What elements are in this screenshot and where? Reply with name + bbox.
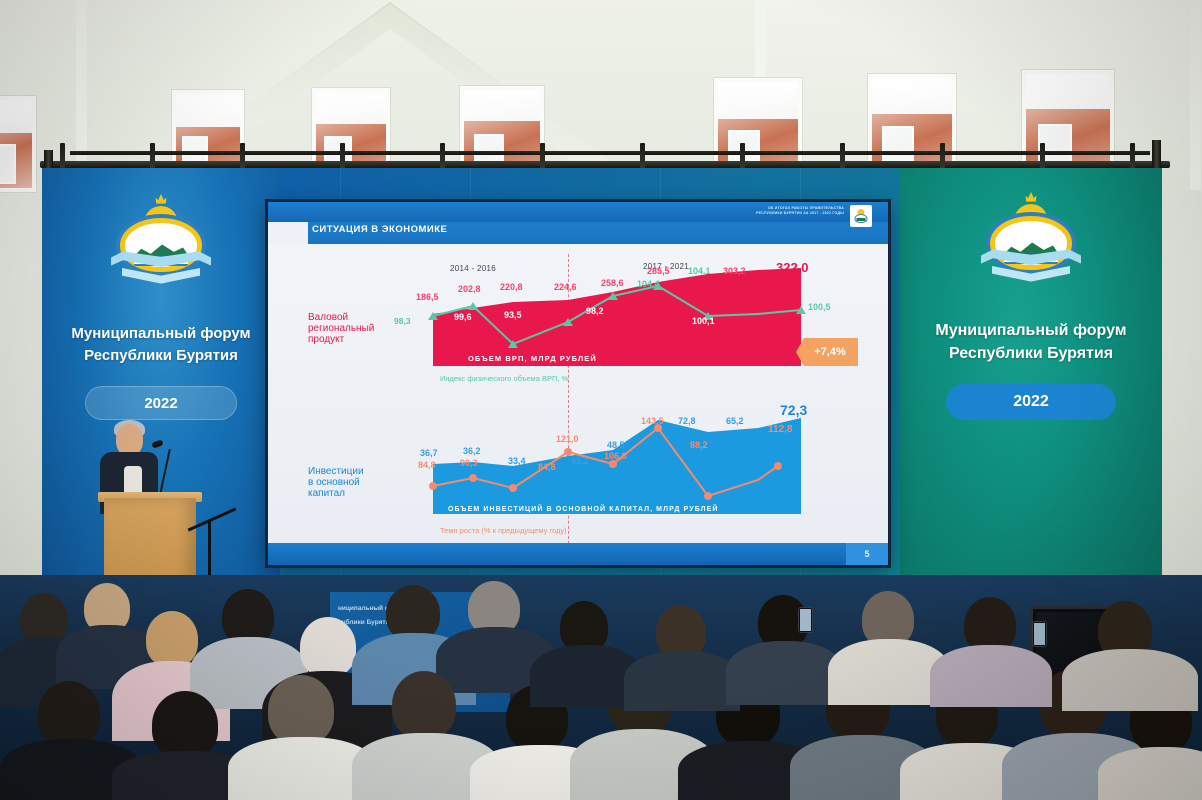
banner-right-title-line1: Муниципальный форум [900, 320, 1162, 342]
grp-index-label: 99,6 [454, 312, 472, 322]
hall-window [0, 96, 36, 192]
inv-rate-label: 84,8 [538, 462, 556, 472]
slide-header-emblem-icon [850, 205, 872, 227]
inv-value-label: 48,5 [607, 440, 625, 450]
grp-value-label-final: 322,0 [776, 260, 809, 275]
slide-title: СИТУАЦИЯ В ЭКОНОМИКЕ [312, 224, 447, 235]
investment-chart-svg [268, 394, 888, 554]
grp-axis-note: Индекс физического объема ВРП, % [440, 374, 568, 383]
grp-value-label: 186,5 [416, 292, 439, 302]
grp-index-label: 93,5 [504, 310, 522, 320]
inv-value-label: 36,2 [463, 446, 481, 456]
banner-left-title-line1: Муниципальный форум [42, 324, 280, 344]
inv-value-label: 65,2 [726, 416, 744, 426]
inv-rate-label: 90,3 [460, 458, 478, 468]
inv-rate-label: 106,8 [604, 451, 627, 461]
grp-index-label: 100,1 [692, 316, 715, 326]
wall-column [1190, 0, 1201, 190]
audience-head [146, 611, 198, 667]
inv-value-label: 72,8 [678, 416, 696, 426]
grp-value-label: 202,8 [458, 284, 481, 294]
grp-index-label: 104,4 [637, 279, 660, 289]
audience-phone [798, 607, 813, 633]
audience-shoulders [930, 645, 1052, 707]
slide-page-number: 5 [846, 543, 888, 565]
grp-value-label: 224,6 [554, 282, 577, 292]
inv-value-label: 33,4 [508, 456, 526, 466]
banner-left-year: 2022 [85, 386, 237, 420]
audience-head [392, 671, 456, 739]
slide-bottom-bar [268, 543, 888, 565]
banner-left-title-line2: Республики Бурятия [42, 346, 280, 366]
slide: ОБ ИТОГАХ РАБОТЫ ПРАВИТЕЛЬСТВА РЕСПУБЛИК… [268, 202, 888, 565]
inv-axis-note: Темп роста (% к предыдущему году) [440, 526, 567, 535]
audience-shoulders [1098, 747, 1202, 800]
banner-right: Муниципальный форум Республики Бурятия 2… [900, 168, 1162, 598]
grp-value-label: 258,6 [601, 278, 624, 288]
audience-shoulders [726, 641, 844, 705]
inv-value-label-final: 72,3 [780, 402, 807, 418]
grp-band-label: ОБЪЕМ ВРП, МЛРД РУБЛЕЙ [468, 354, 597, 363]
grp-index-label: 100,5 [808, 302, 831, 312]
inv-band-label: ОБЪЕМ ИНВЕСТИЦИЙ В ОСНОВНОЙ КАПИТАЛ, МЛР… [448, 506, 719, 513]
grp-value-label: 285,5 [647, 266, 670, 276]
grp-value-label: 220,8 [500, 282, 523, 292]
slide-chart-area: 2014 - 2016 2017 - 2021 Валовой регионал… [268, 244, 888, 543]
banner-right-year: 2022 [946, 384, 1116, 420]
audience-head [38, 681, 100, 747]
grp-value-label: 303,2 [723, 266, 746, 276]
inv-rate-label: 88,2 [690, 440, 708, 450]
audience-shoulders [624, 651, 740, 711]
grp-index-label: 104,1 [688, 266, 711, 276]
slide-header-meta: ОБ ИТОГАХ РАБОТЫ ПРАВИТЕЛЬСТВА РЕСПУБЛИК… [756, 206, 844, 217]
slide-header-notch [268, 222, 308, 244]
banner-right-title-line2: Республики Бурятия [900, 343, 1162, 365]
audience-head [268, 675, 334, 745]
grp-index-label: 98,3 [394, 316, 411, 326]
buryatia-emblem-icon [979, 190, 1083, 286]
grp-index-label: 98,2 [586, 306, 604, 316]
audience-phone [1032, 621, 1047, 647]
slide-header-meta-line2: РЕСПУБЛИКИ БУРЯТИИ ЗА 2017 - 2021 ГОДЫ [756, 211, 844, 216]
audience-shoulders [1062, 649, 1198, 711]
inv-rate-label: 121,0 [556, 434, 579, 444]
growth-badge: +7,4% [796, 338, 858, 366]
inv-value-label: 42,2 [571, 456, 589, 466]
audience-head [152, 691, 218, 759]
inv-rate-label: 112,8 [768, 424, 792, 435]
inv-value-label: 36,7 [420, 448, 438, 458]
inv-rate-label: 84,8 [418, 460, 436, 470]
presentation-screen: ОБ ИТОГАХ РАБОТЫ ПРАВИТЕЛЬСТВА РЕСПУБЛИК… [268, 202, 888, 565]
audience-head [300, 617, 356, 677]
inv-rate-label: 143,5 [641, 416, 664, 426]
buryatia-emblem-icon [109, 192, 213, 288]
audience-area: ниципальный форум публики Бурятия — [0, 575, 1202, 800]
